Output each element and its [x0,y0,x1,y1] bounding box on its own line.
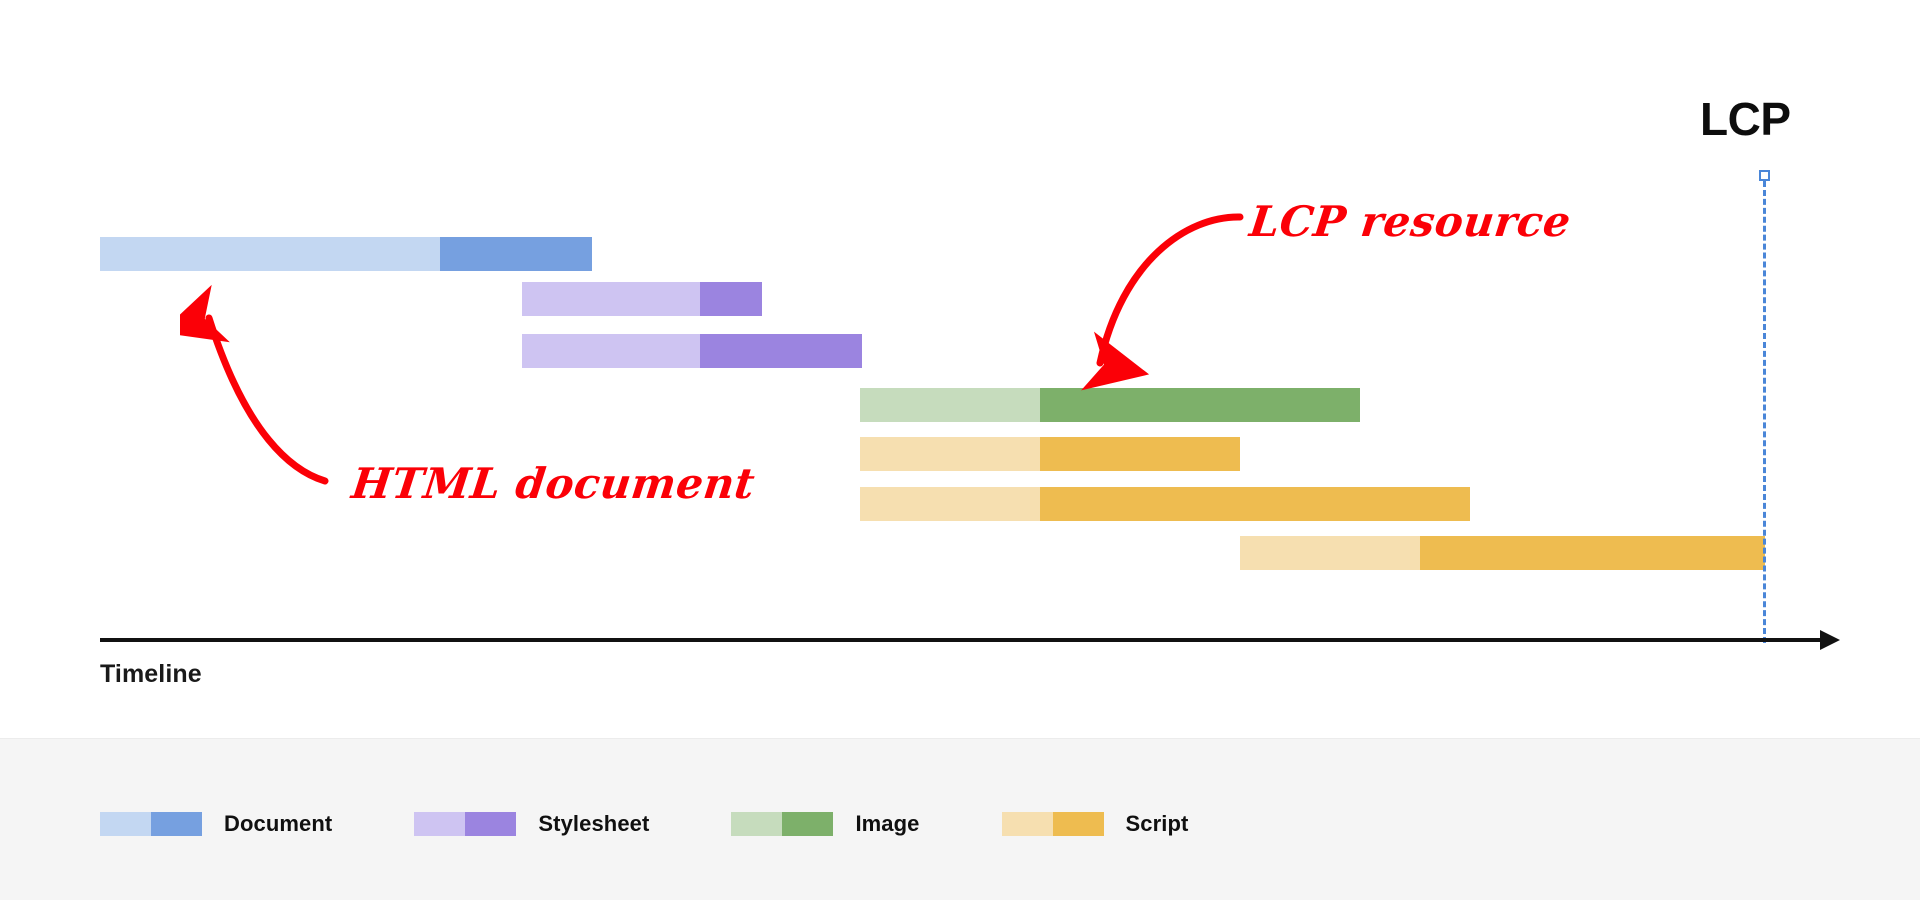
bar-download-segment [1040,487,1470,521]
waterfall-bar-script-4 [860,437,1240,471]
legend-item-document[interactable]: Document [100,811,332,837]
legend-label: Stylesheet [538,811,649,837]
legend-swatch-wait [414,812,465,836]
bar-wait-segment [860,437,1040,471]
waterfall-bar-script-6 [1240,536,1765,570]
bar-wait-segment [1240,536,1420,570]
bar-wait-segment [860,487,1040,521]
legend-label: Script [1126,811,1189,837]
legend-swatch-icon [731,812,833,836]
timeline-axis-arrowhead [1820,630,1840,650]
legend-swatch-download [151,812,202,836]
waterfall-bar-document-0 [100,237,592,271]
legend-swatch-icon [100,812,202,836]
bar-download-segment [700,334,862,368]
bar-download-segment [1040,388,1360,422]
bar-wait-segment [860,388,1040,422]
lcp-resource-arrow-icon [1060,200,1270,395]
waterfall-bar-image-3 [860,388,1360,422]
legend-swatch-wait [731,812,782,836]
bar-download-segment [1420,536,1765,570]
bar-wait-segment [522,334,700,368]
chart-plot-area: LCP Timeline HTML document LCP [0,0,1920,738]
waterfall-bar-stylesheet-1 [522,282,762,316]
legend-items-row: DocumentStylesheetImageScript [100,811,1270,837]
lcp-dashed-line [1763,181,1766,643]
lcp-resource-annotation-label: LCP resource [1247,197,1574,246]
legend-label: Document [224,811,332,837]
legend-swatch-download [465,812,516,836]
legend-panel: DocumentStylesheetImageScript [0,738,1920,900]
bar-wait-segment [522,282,700,316]
legend-label: Image [855,811,919,837]
lcp-marker-square [1759,170,1770,181]
waterfall-bar-stylesheet-2 [522,334,862,368]
timeline-axis-label: Timeline [100,660,202,689]
bar-download-segment [700,282,762,316]
legend-swatch-icon [1002,812,1104,836]
lcp-label: LCP [1700,92,1791,146]
waterfall-bar-script-5 [860,487,1470,521]
bar-wait-segment [100,237,440,271]
lcp-waterfall-diagram: LCP Timeline HTML document LCP [0,0,1920,900]
html-document-annotation-label: HTML document [349,459,758,508]
legend-swatch-wait [1002,812,1053,836]
legend-swatch-wait [100,812,151,836]
legend-item-script[interactable]: Script [1002,811,1189,837]
legend-swatch-download [1053,812,1104,836]
timeline-axis-line [100,638,1825,642]
bar-download-segment [440,237,592,271]
legend-swatch-download [782,812,833,836]
legend-swatch-icon [414,812,516,836]
legend-item-image[interactable]: Image [731,811,919,837]
bar-download-segment [1040,437,1240,471]
legend-item-stylesheet[interactable]: Stylesheet [414,811,649,837]
